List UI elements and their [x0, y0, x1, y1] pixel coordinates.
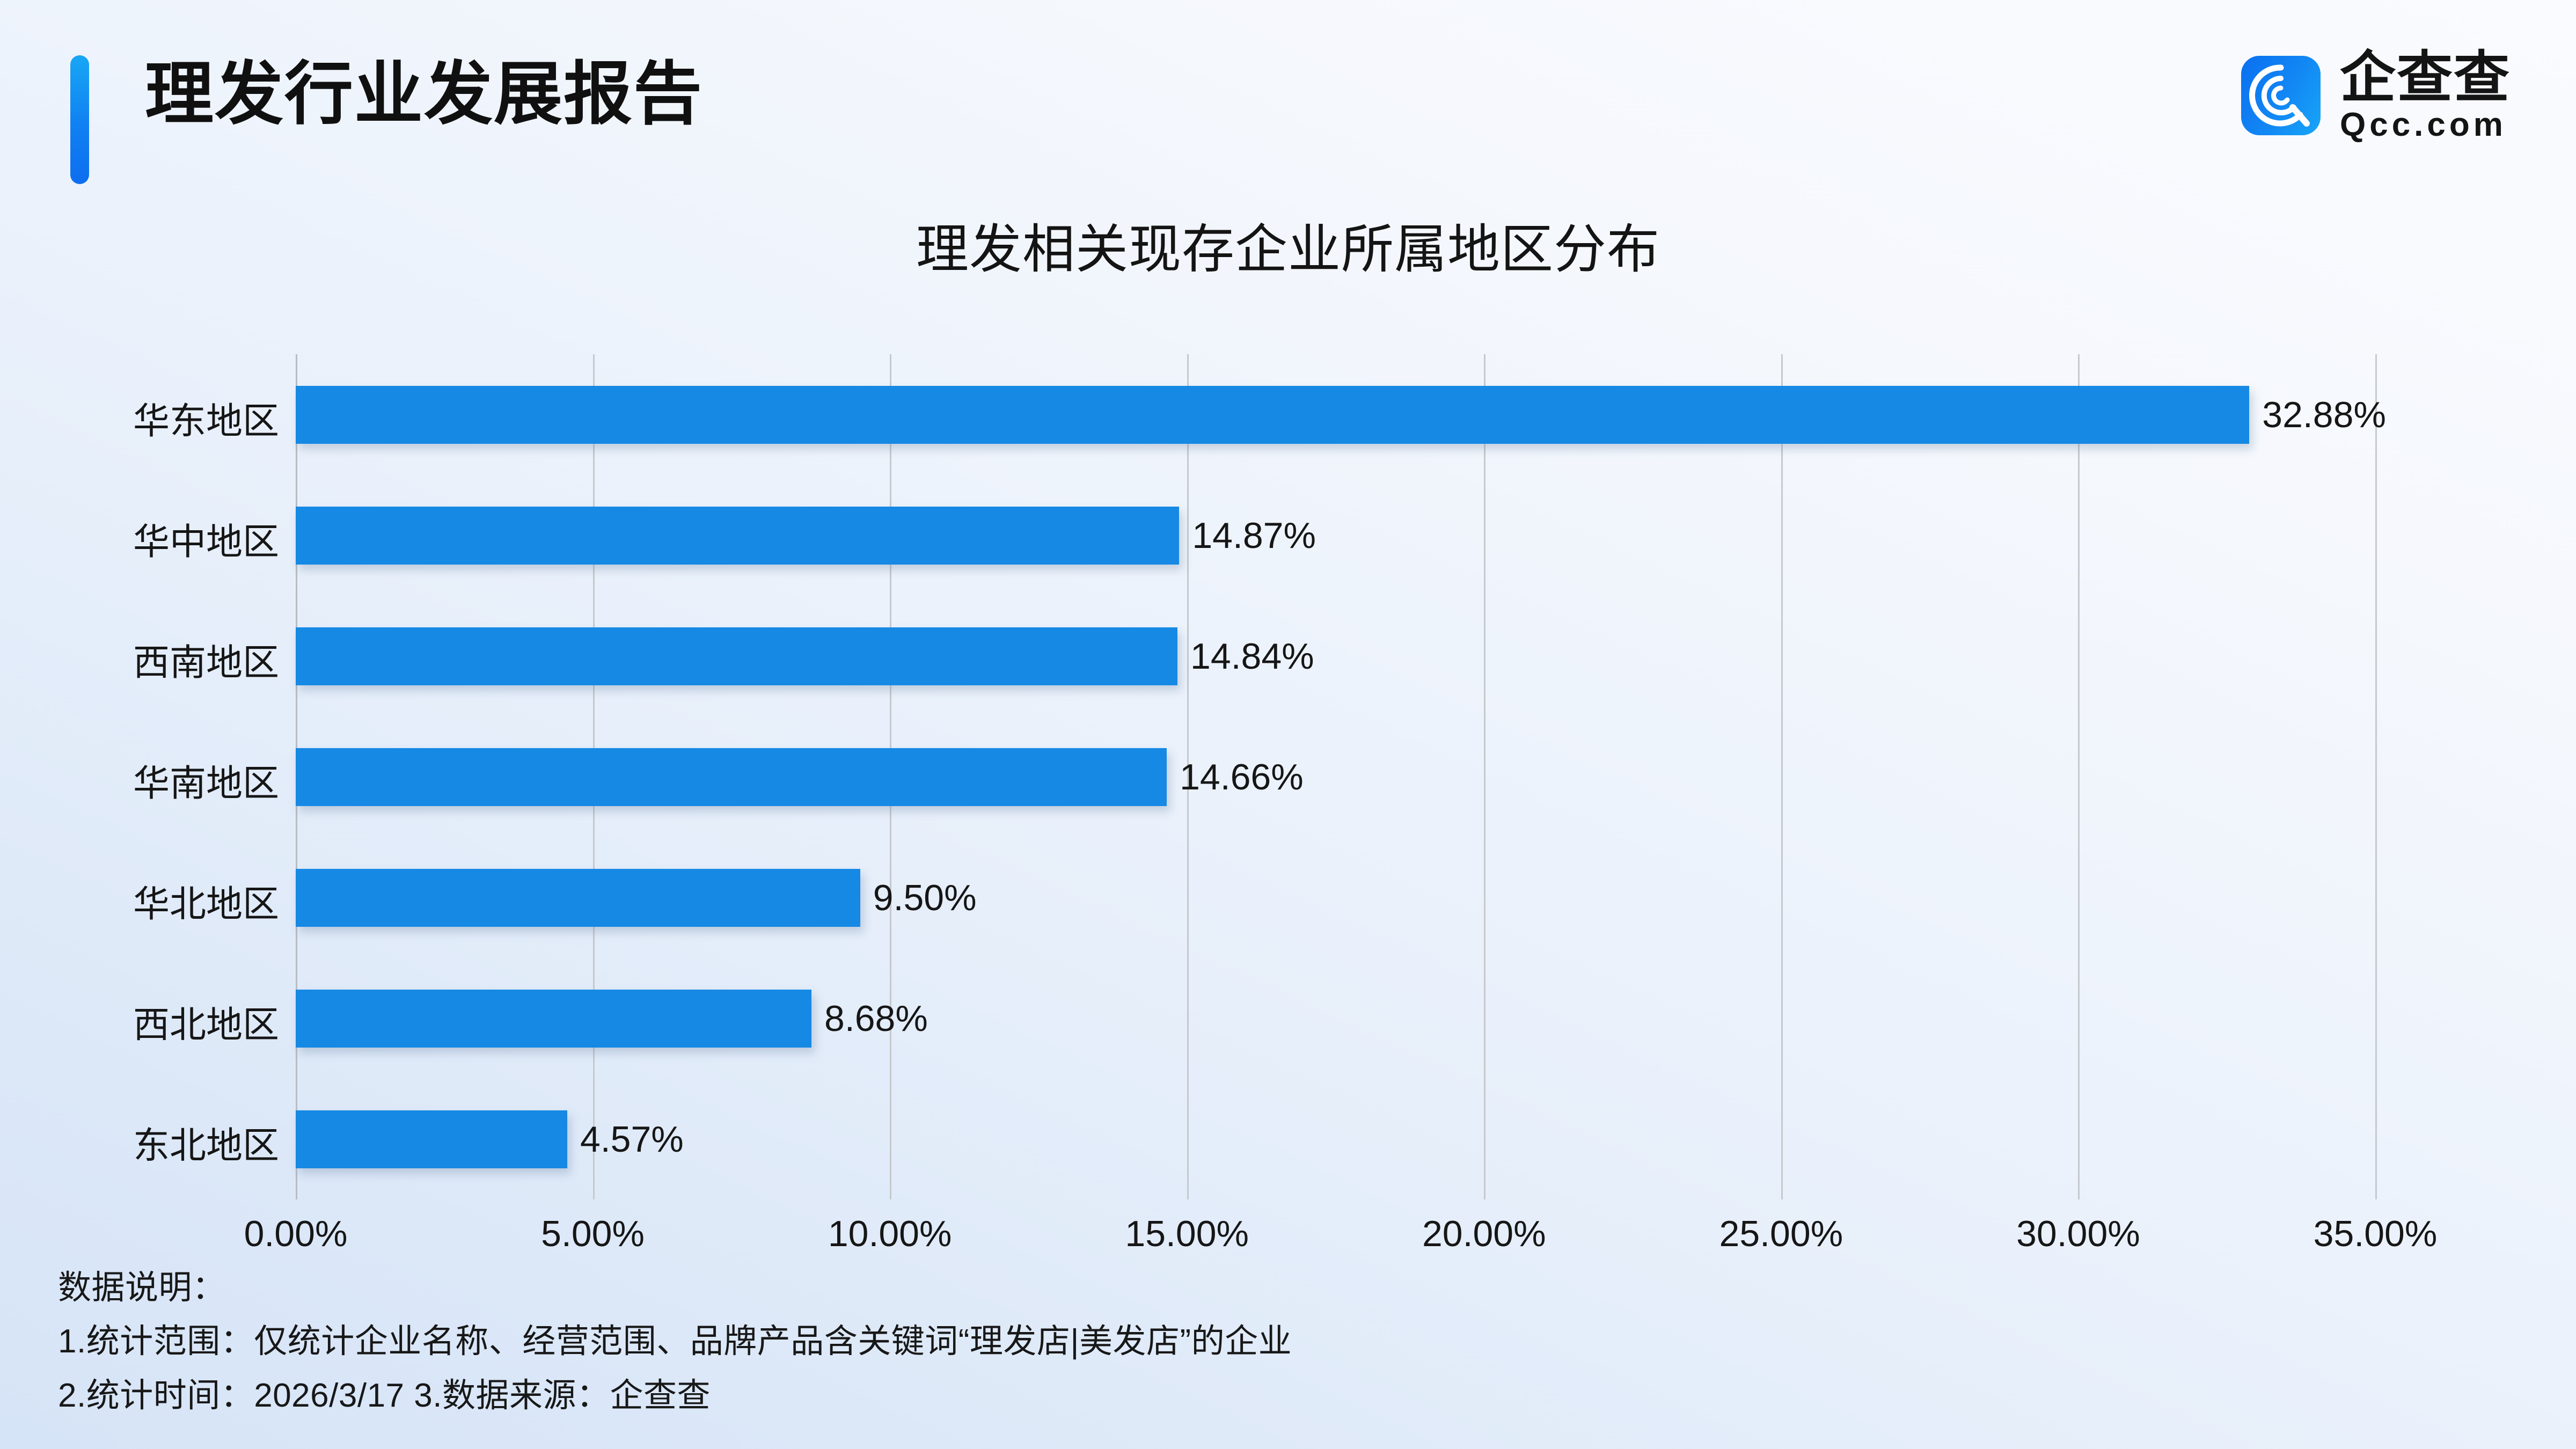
y-axis-label: 西北地区	[32, 995, 279, 1048]
bar-row[interactable]: 14.84%	[296, 596, 1314, 716]
bar[interactable]	[296, 386, 2249, 444]
brand-text: 企查查 Qcc.com	[2340, 49, 2511, 142]
y-axis-label: 西南地区	[32, 633, 279, 686]
gridline	[1484, 354, 1485, 1199]
bar[interactable]	[296, 869, 860, 927]
bar-value-label: 14.87%	[1192, 515, 1316, 557]
bar[interactable]	[296, 1110, 567, 1168]
gridline	[2375, 354, 2377, 1199]
bar-value-label: 4.57%	[580, 1118, 684, 1160]
chart-title: 理发相关现存企业所属地区分布	[0, 207, 2576, 283]
bar[interactable]	[296, 748, 1167, 806]
bar-value-label: 14.66%	[1180, 756, 1304, 798]
x-axis-tick-label: 10.00%	[828, 1213, 952, 1255]
bar-value-label: 8.68%	[824, 998, 928, 1040]
bar-value-label: 9.50%	[873, 877, 977, 919]
gridline	[1781, 354, 1783, 1199]
bar-value-label: 14.84%	[1190, 635, 1314, 677]
bar[interactable]	[296, 627, 1177, 685]
gridline	[2078, 354, 2080, 1199]
x-axis-tick-label: 20.00%	[1422, 1213, 1546, 1255]
bar-row[interactable]: 14.87%	[296, 475, 1316, 596]
x-axis-tick-label: 30.00%	[2016, 1213, 2140, 1255]
footnotes: 数据说明： 1.统计范围：仅统计企业名称、经营范围、品牌产品含关键词“理发店|美…	[58, 1261, 2527, 1423]
footnote-time-source: 2.统计时间：2026/3/17 3.数据来源：企查查	[58, 1369, 2527, 1423]
brand-logo: 企查查 Qcc.com	[2241, 49, 2511, 142]
brand-name-cn: 企查查	[2340, 49, 2511, 106]
qcc-spiral-q-icon	[2241, 56, 2321, 135]
bar-row[interactable]: 32.88%	[296, 354, 2386, 475]
x-axis-tick-label: 15.00%	[1125, 1213, 1249, 1255]
x-axis-tick-label: 35.00%	[2314, 1213, 2438, 1255]
bar-row[interactable]: 9.50%	[296, 837, 977, 958]
plot-area: 32.88%14.87%14.84%14.66%9.50%8.68%4.57%	[296, 354, 2375, 1199]
bar[interactable]	[296, 507, 1179, 565]
page-title: 理发行业发展报告	[145, 60, 703, 129]
y-axis-label: 华中地区	[32, 512, 279, 565]
bar-row[interactable]: 8.68%	[296, 958, 928, 1079]
x-axis-tick-label: 0.00%	[244, 1213, 348, 1255]
footnote-scope: 1.统计范围：仅统计企业名称、经营范围、品牌产品含关键词“理发店|美发店”的企业	[58, 1315, 2527, 1368]
x-axis-tick-label: 25.00%	[1719, 1213, 1843, 1255]
brand-name-en: Qcc.com	[2340, 108, 2511, 142]
bar-row[interactable]: 4.57%	[296, 1079, 684, 1199]
bar-value-label: 32.88%	[2262, 394, 2386, 436]
y-axis-label: 华东地区	[32, 391, 279, 444]
bar-row[interactable]: 14.66%	[296, 716, 1304, 837]
y-axis-label: 华南地区	[32, 753, 279, 807]
page-header: 理发行业发展报告 企查查 Qcc.com	[0, 0, 2576, 199]
title-accent-bar	[70, 55, 89, 184]
bar-chart: 32.88%14.87%14.84%14.66%9.50%8.68%4.57% …	[0, 333, 2576, 1277]
footnote-heading: 数据说明：	[58, 1261, 2527, 1315]
bar[interactable]	[296, 990, 811, 1048]
y-axis-label: 华北地区	[32, 874, 279, 927]
y-axis-label: 东北地区	[32, 1116, 279, 1169]
x-axis-tick-label: 5.00%	[541, 1213, 645, 1255]
